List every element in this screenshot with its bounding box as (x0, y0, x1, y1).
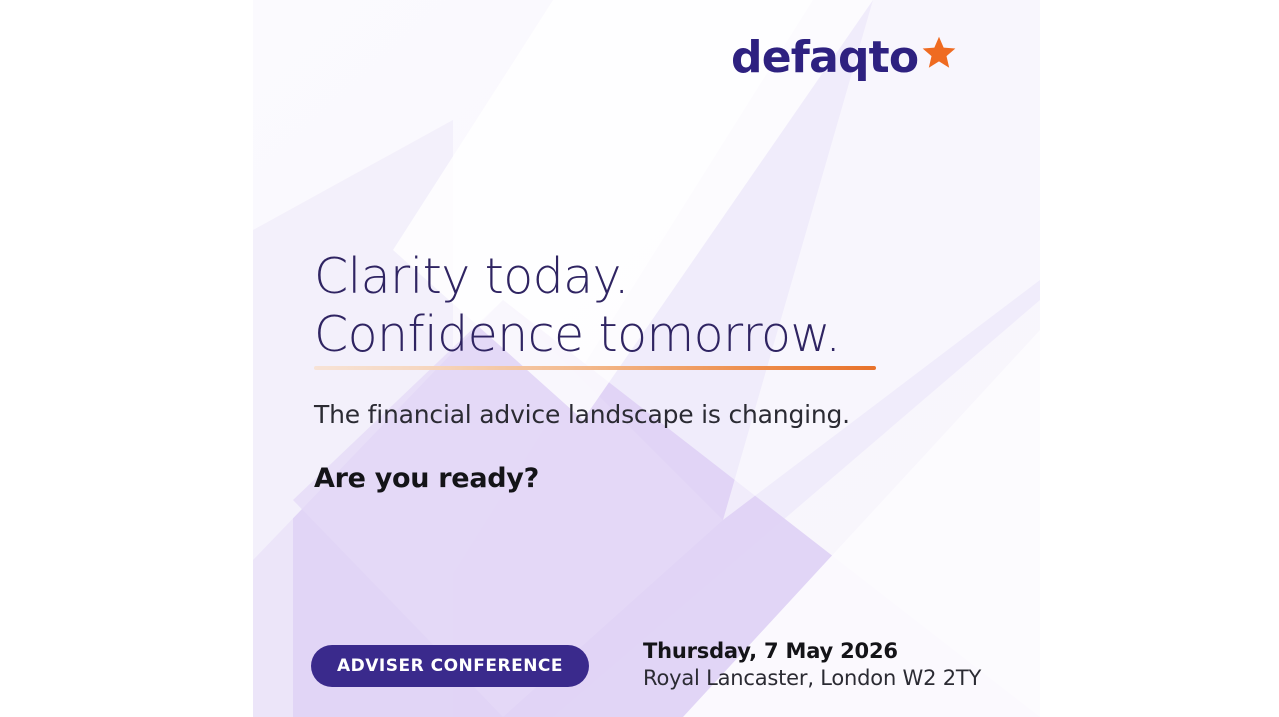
headline-block: Clarity today. Confidence tomorrow. (314, 248, 1014, 370)
artwork-panel: defaqto Clarity today. Confidence tomorr… (253, 0, 1040, 717)
star-icon (921, 35, 957, 71)
cta-question-text: Are you ready? (314, 463, 539, 494)
logo-wordmark: defaqto (731, 36, 918, 80)
headline-line-1: Clarity today. (314, 248, 1014, 306)
event-date: Thursday, 7 May 2026 (643, 639, 981, 663)
event-details: Thursday, 7 May 2026 Royal Lancaster, Lo… (643, 639, 981, 690)
headline-underline-accent (314, 366, 876, 370)
headline-line-2: Confidence tomorrow. (314, 306, 840, 363)
headline-line-2-wrap: Confidence tomorrow. (314, 306, 840, 370)
defaqto-logo: defaqto (731, 36, 957, 80)
adviser-conference-badge[interactable]: ADVISER CONFERENCE (311, 645, 589, 687)
poster-canvas: defaqto Clarity today. Confidence tomorr… (0, 0, 1279, 717)
event-venue: Royal Lancaster, London W2 2TY (643, 666, 981, 690)
adviser-conference-badge-label: ADVISER CONFERENCE (337, 656, 563, 676)
subhead-text: The financial advice landscape is changi… (314, 400, 850, 429)
